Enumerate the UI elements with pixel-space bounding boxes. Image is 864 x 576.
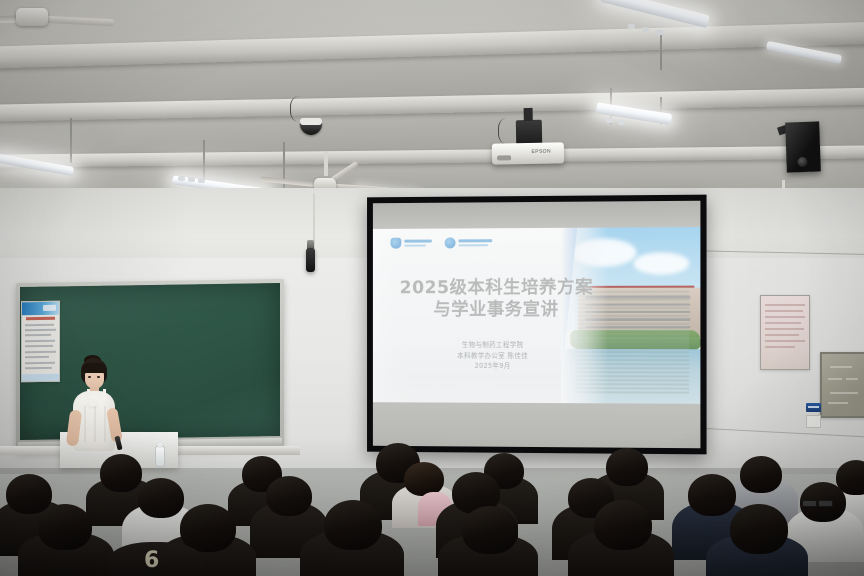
poster-text-line	[25, 356, 49, 358]
small-wall-card	[806, 415, 821, 428]
wall-poster	[760, 295, 810, 370]
university-logo	[391, 237, 432, 248]
poster-text-line	[765, 304, 805, 306]
cloud	[633, 252, 689, 275]
board-text-line	[846, 378, 858, 380]
poster-title-bar	[26, 317, 55, 320]
blue-wall-label	[806, 403, 821, 412]
poster-text-line	[765, 328, 804, 330]
fabric-fold	[94, 406, 96, 442]
ceiling	[0, 0, 864, 200]
eyeglasses	[802, 500, 817, 507]
shirt-number-graphic: 6	[144, 548, 159, 573]
light-cap	[628, 24, 635, 29]
poster-text-line	[25, 340, 55, 342]
college-logo	[445, 237, 493, 248]
slide-logos	[391, 237, 493, 248]
screen-top-band	[373, 201, 701, 229]
slide-title-line-1: 2025级本科生培养方案	[400, 278, 593, 298]
board-text-line	[830, 366, 852, 368]
university-logo-text	[404, 240, 432, 247]
light-cap	[188, 177, 195, 182]
poster-text-line	[25, 345, 53, 347]
poster-text-line	[765, 322, 801, 324]
logo-text-line	[459, 244, 489, 246]
audience: 6	[0, 438, 864, 576]
slide-title: 2025级本科生培养方案 与学业事务宣讲	[389, 277, 604, 322]
student-head	[594, 500, 652, 550]
student-head	[6, 474, 52, 514]
poster-text-line	[25, 334, 51, 336]
light-cap	[656, 30, 663, 35]
neckline-knot	[88, 399, 98, 407]
student-head	[462, 506, 518, 554]
classroom-notice-poster	[21, 301, 60, 383]
logo-text-line	[404, 240, 432, 243]
lecture-hall-photo: EPSON	[0, 0, 864, 576]
student-head	[740, 456, 782, 493]
poster-text-line	[765, 346, 795, 348]
poster-text-line	[25, 351, 56, 353]
light-cap	[606, 118, 613, 123]
student-head	[138, 478, 184, 518]
presentation-slide: 2025级本科生培养方案 与学业事务宣讲 生物与制药工程学院 本科教学办公室 陈…	[373, 227, 701, 404]
board-text-line	[830, 392, 858, 394]
poster-text-line	[765, 310, 803, 312]
university-logo-mark	[391, 237, 402, 248]
projector-wire	[498, 118, 519, 144]
slide-subtitle: 生物与制药工程学院 本科教学办公室 陈佳佳 2025年9月	[392, 340, 594, 372]
speaker-driver	[797, 157, 807, 167]
student-head	[266, 476, 312, 516]
presenter-eye	[97, 376, 100, 378]
fabric-fold	[104, 406, 106, 442]
poster-footer	[22, 374, 59, 382]
wall-speaker	[785, 121, 821, 172]
poster-text-line	[25, 362, 55, 364]
slide-subtitle-line-3: 2025年9月	[392, 361, 594, 372]
college-logo-mark	[445, 237, 456, 248]
fan-motor	[16, 8, 48, 26]
light-cap	[618, 120, 625, 125]
slide-subtitle-line-2: 本科教学办公室 陈佳佳	[392, 350, 594, 361]
poster-text-line	[25, 367, 52, 369]
projection-screen: 2025级本科生培养方案 与学业事务宣讲 生物与制药工程学院 本科教学办公室 陈…	[367, 195, 707, 455]
logo-text-line	[459, 239, 493, 242]
student-head	[180, 504, 236, 552]
projector-lens	[497, 155, 511, 160]
college-logo-text	[459, 239, 493, 246]
light-cap	[642, 27, 649, 32]
student-head	[688, 474, 736, 516]
logo-text-line	[404, 244, 426, 246]
fabric-fold	[84, 406, 86, 442]
poster-text-line	[765, 340, 805, 342]
poster-text-line	[25, 324, 54, 326]
framed-notice-board	[820, 352, 864, 418]
light-hanger-rod	[660, 30, 662, 70]
student-head	[404, 462, 444, 496]
projector: EPSON	[492, 142, 564, 164]
student-head	[100, 454, 142, 492]
screen-surface: 2025级本科生培养方案 与学业事务宣讲 生物与制药工程学院 本科教学办公室 陈…	[373, 201, 701, 449]
presenter-eye	[88, 376, 91, 378]
slide-title-line-2: 与学业事务宣讲	[389, 299, 604, 322]
light-cap	[178, 176, 185, 181]
presenter-fringe	[82, 363, 107, 373]
board-text-line	[828, 378, 842, 380]
poster-text-line	[765, 316, 805, 318]
poster-text-line	[25, 329, 56, 331]
student-head	[606, 448, 648, 486]
hanging-microphone	[306, 248, 315, 272]
student-head	[38, 504, 92, 550]
light-hanger-rod	[70, 118, 72, 163]
projector-brand-label: EPSON	[531, 149, 551, 155]
fan-rod	[324, 152, 328, 176]
eyeglasses	[818, 500, 833, 507]
camera-wire	[290, 96, 313, 122]
poster-header	[22, 302, 59, 316]
poster-text-line	[765, 334, 799, 336]
light-cap	[198, 178, 205, 183]
slide-subtitle-line-1: 生物与制药工程学院	[392, 340, 594, 351]
student-head	[730, 504, 788, 554]
projector-mount	[516, 120, 542, 144]
board-text-line	[828, 402, 848, 404]
student-head	[324, 500, 382, 550]
